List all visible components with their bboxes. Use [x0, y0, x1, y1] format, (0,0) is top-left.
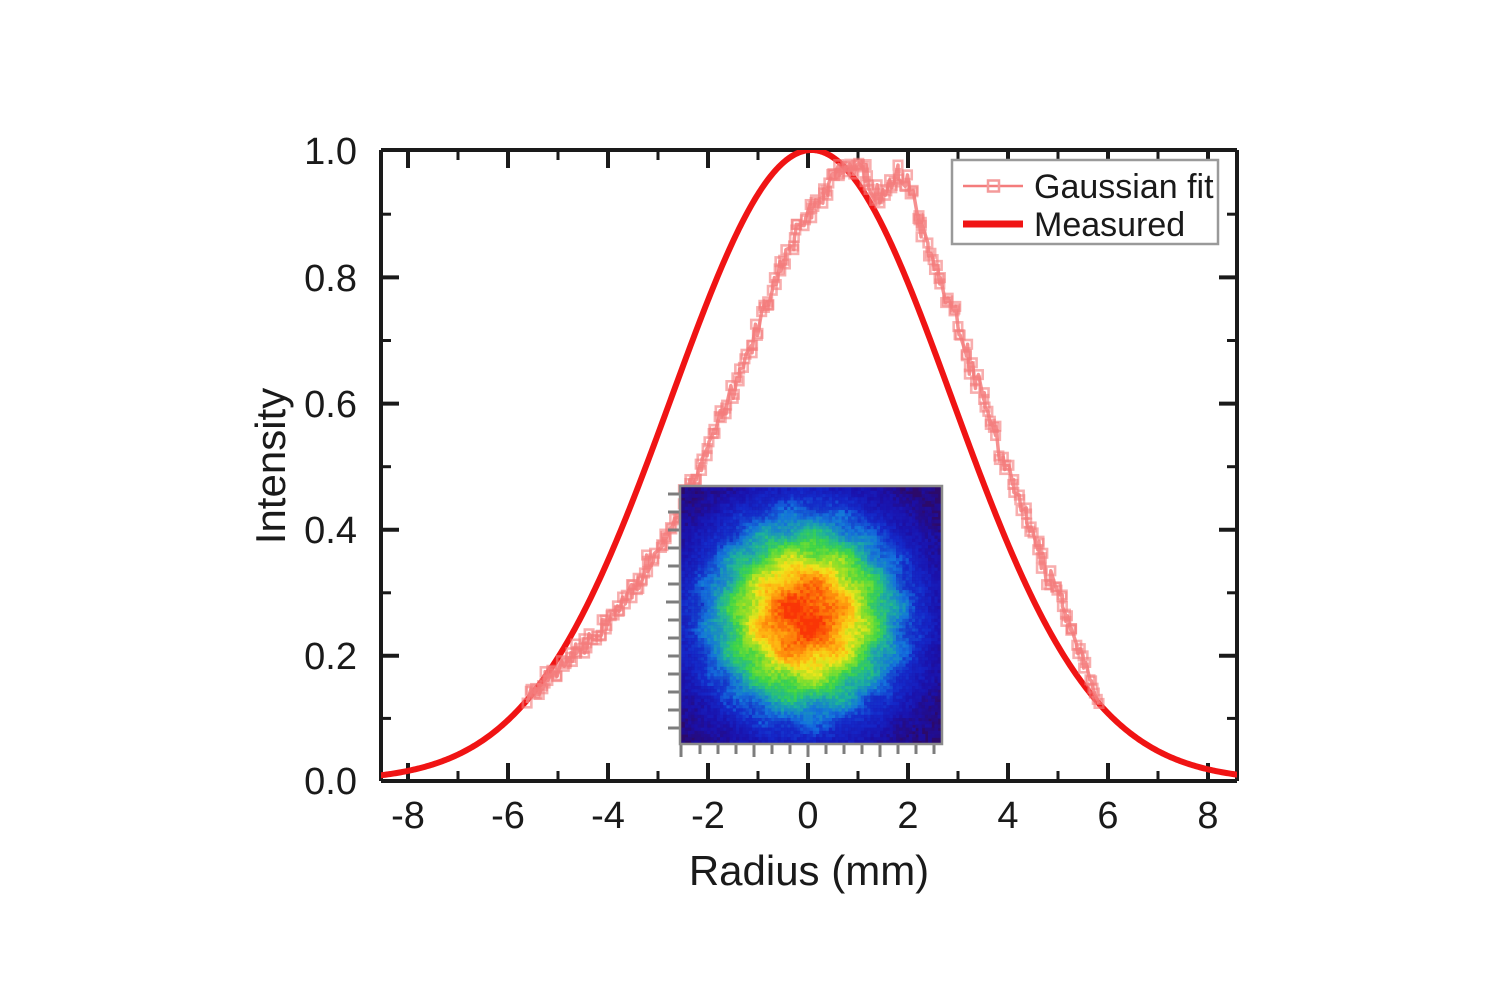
y-tick-label: 0.6	[304, 384, 357, 426]
y-tick-label: 0.8	[304, 258, 357, 300]
legend[interactable]: Gaussian fit Measured	[952, 160, 1218, 244]
y-tick-label: 0.4	[304, 510, 357, 552]
y-tick-label: 0.0	[304, 761, 357, 803]
x-tick-label: 2	[897, 795, 918, 837]
figure-container: -8 -6 -4 -2 0 2 4 6 8 0.0 0.2 0.4 0.6 0.…	[0, 0, 1500, 1000]
y-tick-label: 0.2	[304, 636, 357, 678]
x-tick-label: -8	[391, 795, 425, 837]
x-axis-title: Radius (mm)	[689, 847, 929, 894]
x-tick-label: -6	[491, 795, 525, 837]
beam-profile-chart: -8 -6 -4 -2 0 2 4 6 8 0.0 0.2 0.4 0.6 0.…	[0, 0, 1500, 1000]
beam-speckle-overlay	[682, 488, 945, 748]
legend-label-measured: Measured	[1034, 206, 1185, 244]
x-tick-label: 6	[1097, 795, 1118, 837]
x-tick-label: -2	[691, 795, 725, 837]
inset-beam-profile	[666, 486, 945, 757]
legend-label-gaussian-fit: Gaussian fit	[1034, 168, 1214, 206]
y-axis-title: Intensity	[247, 388, 294, 544]
y-tick-label: 1.0	[304, 131, 357, 173]
x-tick-label: 4	[997, 795, 1018, 837]
x-tick-label: -4	[591, 795, 625, 837]
x-tick-label: 8	[1197, 795, 1218, 837]
x-tick-label: 0	[797, 795, 818, 837]
